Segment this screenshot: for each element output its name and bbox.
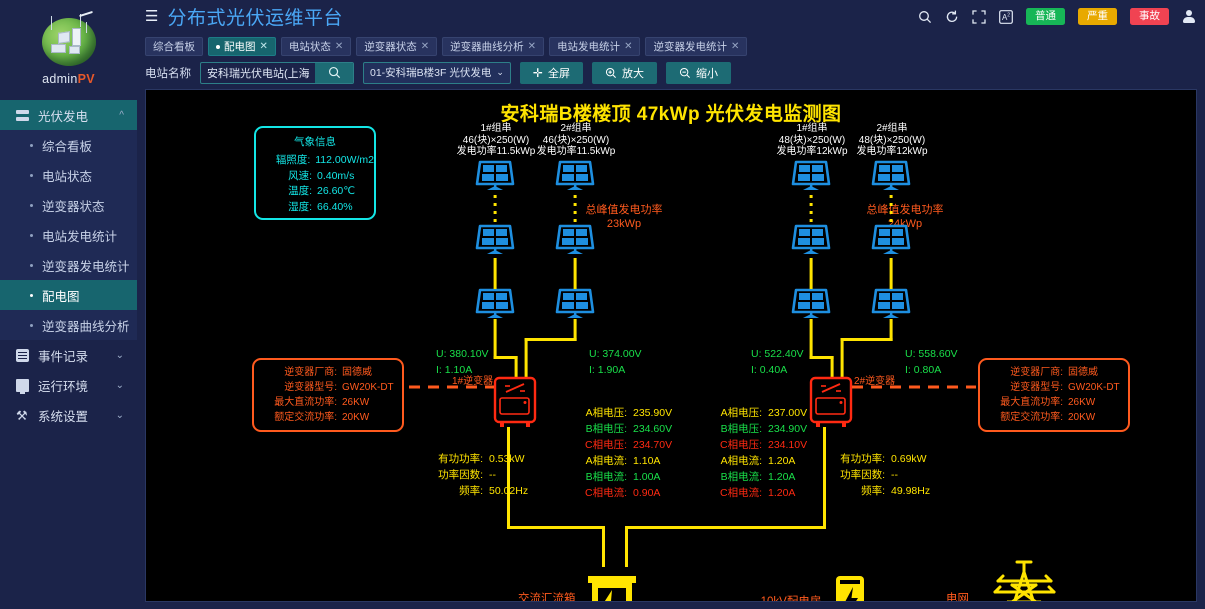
phase-meters-1: A相电压: 235.90V B相电压: 234.60V C相电压: 234.70…	[573, 405, 672, 501]
dc-meter-2-1: U: 522.40V I: 0.40A	[751, 346, 804, 378]
phase-key: A相电流:	[573, 453, 627, 469]
header-actions: A2 普通 严重 事故	[918, 8, 1195, 25]
sidebar-item-station-status[interactable]: 电站状态	[0, 160, 137, 190]
phase-row-c-voltage: C相电压: 234.70V	[573, 437, 672, 453]
chevron-down-icon: ⌄	[116, 410, 124, 421]
phase-key: B相电压:	[573, 421, 627, 437]
meter-key: 功率因数:	[429, 467, 483, 483]
phase-key: B相电流:	[573, 469, 627, 485]
sidebar-item-label: 逆变器发电统计	[42, 256, 130, 275]
diagram-graphics	[146, 90, 1196, 602]
transmission-tower-icon	[995, 562, 1054, 602]
meter-row-active-power: 有功功率: 0.69kW	[831, 451, 930, 467]
sidebar-item-distribution-diagram[interactable]: 配电图	[0, 280, 137, 310]
phase-value: 234.10V	[762, 437, 807, 453]
phase-key: C相电流:	[708, 485, 762, 501]
close-icon[interactable]: ✕	[421, 41, 429, 52]
brand-accent: PV	[78, 72, 95, 86]
close-icon[interactable]: ✕	[731, 41, 739, 52]
diagram-canvas-wrap: 安科瑞B楼楼顶 47kWp 光伏发电监测图 气象信息 辐照度: 112.00W/…	[137, 89, 1205, 609]
sidebar: adminPV 光伏发电 ^ 综合看板 电站状态 逆变器	[0, 0, 137, 609]
bullet-icon	[30, 174, 33, 177]
inverter-name-2: 2#逆变器	[854, 372, 895, 387]
sidebar-item-label: 电站状态	[42, 166, 92, 185]
spec-key: 最大直流功率:	[259, 395, 337, 410]
page-title: 分布式光伏运维平台	[167, 3, 343, 30]
dc-current: I: 0.40A	[751, 362, 804, 378]
user-avatar-icon[interactable]	[1182, 10, 1195, 24]
phase-row-c-current: C相电流: 1.20A	[708, 485, 807, 501]
plus-icon: ✛	[533, 66, 543, 80]
tab-inverter-curve[interactable]: 逆变器曲线分析 ✕	[442, 37, 544, 56]
spec-row-vendor: 逆变器厂商: 固德威	[259, 365, 395, 380]
spec-value: 固德威	[337, 365, 372, 380]
grid-label: 电网	[946, 592, 969, 602]
spec-row-vendor: 逆变器厂商: 固德威	[985, 365, 1121, 380]
dc-current: I: 0.80A	[905, 362, 958, 378]
sidebar-item-label: 配电图	[42, 286, 80, 305]
tab-label: 逆变器状态	[364, 39, 417, 54]
close-icon[interactable]: ✕	[624, 41, 632, 52]
fullscreen-button[interactable]: ✛ 全屏	[520, 62, 583, 84]
sidebar-subnav-pv: 综合看板 电站状态 逆变器状态 电站发电统计 逆变器发电统计	[0, 130, 137, 340]
phase-row-b-voltage: B相电压: 234.60V	[573, 421, 672, 437]
phase-value: 1.20A	[762, 469, 795, 485]
dc-meter-1-2: U: 374.00V I: 1.90A	[589, 346, 642, 378]
inverter-spec-box-1: 逆变器厂商: 固德威 逆变器型号: GW20K-DT 最大直流功率: 26KW …	[252, 358, 404, 432]
spec-value: GW20K-DT	[337, 380, 394, 395]
spec-key: 额定交流功率:	[259, 410, 337, 425]
sidebar-item-inverter-status[interactable]: 逆变器状态	[0, 190, 137, 220]
phase-row-a-voltage: A相电压: 237.00V	[708, 405, 807, 421]
sidebar-item-label: 综合看板	[42, 136, 92, 155]
grid-icon	[16, 109, 29, 122]
meter-key: 有功功率:	[429, 451, 483, 467]
tab-dashboard[interactable]: 综合看板	[145, 37, 203, 56]
sidebar-group-environment[interactable]: 运行环境 ⌄	[0, 370, 137, 400]
ac-combiner-label: 交流汇流箱	[518, 592, 576, 602]
phase-row-b-current: B相电流: 1.20A	[708, 469, 807, 485]
chevron-down-icon: ⌄	[496, 67, 504, 78]
dc-current: I: 1.90A	[589, 362, 642, 378]
document-icon	[16, 349, 29, 362]
inverter-meters-1: 有功功率: 0.53kW 功率因数: -- 频率: 50.02Hz	[429, 451, 528, 499]
substation-label: 10kV配电房 低压并网柜	[746, 595, 836, 602]
tab-station-status[interactable]: 电站状态 ✕	[281, 37, 351, 56]
tab-station-generation[interactable]: 电站发电统计 ✕	[549, 37, 640, 56]
brand-logo-icon	[39, 10, 99, 68]
sidebar-group-label: 运行环境	[38, 376, 88, 395]
inverter-meters-2: 有功功率: 0.69kW 功率因数: -- 频率: 49.98Hz	[831, 451, 930, 499]
meter-key: 有功功率:	[831, 451, 885, 467]
phase-key: C相电压:	[573, 437, 627, 453]
phase-key: C相电压:	[708, 437, 762, 453]
spec-value: 26KW	[337, 395, 369, 410]
meter-row-frequency: 频率: 50.02Hz	[429, 483, 528, 499]
fullscreen-button-label: 全屏	[548, 65, 570, 81]
meter-row-power-factor: 功率因数: --	[429, 467, 528, 483]
sidebar-group-settings[interactable]: ⚒ 系统设置 ⌄	[0, 400, 137, 430]
phase-row-c-voltage: C相电压: 234.10V	[708, 437, 807, 453]
sidebar-group-events[interactable]: 事件记录 ⌄	[0, 340, 137, 370]
spec-key: 逆变器型号:	[985, 380, 1063, 395]
chevron-down-icon: ⌄	[116, 380, 124, 391]
inverter-device-2	[811, 378, 851, 427]
tab-bar: 综合看板 配电图 ✕ 电站状态 ✕ 逆变器状态 ✕ 逆变器曲线分析 ✕ 电站发电…	[137, 33, 1205, 56]
sidebar-item-inverter-generation[interactable]: 逆变器发电统计	[0, 250, 137, 280]
meter-key: 频率:	[831, 483, 885, 499]
filter-toolbar: 电站名称 01-安科瑞B楼3F 光伏发电 ⌄ ✛ 全屏 放大 缩小	[137, 56, 1205, 89]
svg-text:2: 2	[1007, 12, 1010, 18]
bullet-icon	[30, 294, 33, 297]
language-icon[interactable]: A2	[999, 10, 1013, 24]
close-icon[interactable]: ✕	[260, 41, 268, 52]
tab-distribution-diagram[interactable]: 配电图 ✕	[208, 37, 276, 56]
meter-value: 0.53kW	[483, 451, 525, 467]
ac-combiner-box-icon	[588, 576, 636, 602]
phase-value: 1.10A	[627, 453, 660, 469]
wrench-icon: ⚒	[16, 409, 29, 422]
phase-value: 237.00V	[762, 405, 807, 421]
spec-value: GW20K-DT	[1063, 380, 1120, 395]
logo-area: adminPV	[0, 0, 137, 86]
phase-key: A相电压:	[708, 405, 762, 421]
phase-value: 235.90V	[627, 405, 672, 421]
meter-value: --	[483, 467, 496, 483]
phase-row-a-current: A相电流: 1.10A	[573, 453, 672, 469]
sidebar-group-label: 事件记录	[38, 346, 88, 365]
meter-value: 50.02Hz	[483, 483, 528, 499]
tab-label: 配电图	[224, 39, 256, 54]
sidebar-group-label: 光伏发电	[38, 106, 88, 125]
spec-row-dcpower: 最大直流功率: 26KW	[985, 395, 1121, 410]
search-button[interactable]	[315, 62, 353, 84]
search-input[interactable]	[201, 63, 315, 83]
search-icon[interactable]	[918, 10, 932, 24]
inverter-spec-box-2: 逆变器厂商: 固德威 逆变器型号: GW20K-DT 最大直流功率: 26KW …	[978, 358, 1130, 432]
station-search	[200, 62, 354, 84]
dc-voltage: U: 380.10V	[436, 346, 489, 362]
phase-value: 1.20A	[762, 485, 795, 501]
zoom-in-button[interactable]: 放大	[592, 62, 657, 84]
spec-value: 20KW	[1063, 410, 1095, 425]
sidebar-item-label: 逆变器状态	[42, 196, 105, 215]
distribution-diagram[interactable]: 安科瑞B楼楼顶 47kWp 光伏发电监测图 气象信息 辐照度: 112.00W/…	[145, 89, 1197, 602]
phase-value: 0.90A	[627, 485, 660, 501]
tab-label: 逆变器发电统计	[653, 39, 727, 54]
meter-row-power-factor: 功率因数: --	[831, 467, 930, 483]
spec-row-acpower: 额定交流功率: 20KW	[985, 410, 1121, 425]
dc-voltage: U: 374.00V	[589, 346, 642, 362]
sidebar-nav: 光伏发电 ^ 综合看板 电站状态 逆变器状态 电站发电统计	[0, 100, 137, 430]
dc-voltage: U: 522.40V	[751, 346, 804, 362]
spec-row-model: 逆变器型号: GW20K-DT	[985, 380, 1121, 395]
bullet-icon	[30, 324, 33, 327]
tab-label: 综合看板	[153, 39, 195, 54]
phase-row-a-voltage: A相电压: 235.90V	[573, 405, 672, 421]
close-icon[interactable]: ✕	[335, 41, 343, 52]
tab-inverter-generation[interactable]: 逆变器发电统计 ✕	[645, 37, 747, 56]
sidebar-group-label: 系统设置	[38, 406, 88, 425]
tab-label: 电站状态	[289, 39, 331, 54]
phase-row-b-current: B相电流: 1.00A	[573, 469, 672, 485]
active-dot-icon	[216, 45, 220, 49]
phase-row-a-current: A相电流: 1.20A	[708, 453, 807, 469]
spec-value: 26KW	[1063, 395, 1095, 410]
sidebar-item-label: 电站发电统计	[42, 226, 117, 245]
spec-key: 额定交流功率:	[985, 410, 1063, 425]
station-name-label: 电站名称	[145, 65, 191, 81]
sidebar-item-label: 逆变器曲线分析	[42, 316, 130, 335]
phase-value: 1.20A	[762, 453, 795, 469]
tab-label: 电站发电统计	[557, 39, 620, 54]
substation-line-1: 10kV配电房	[746, 595, 836, 602]
sidebar-item-inverter-curve[interactable]: 逆变器曲线分析	[0, 310, 137, 340]
spec-key: 逆变器厂商:	[259, 365, 337, 380]
meter-key: 频率:	[429, 483, 483, 499]
meter-value: 0.69kW	[885, 451, 927, 467]
tab-label: 逆变器曲线分析	[450, 39, 524, 54]
meter-key: 功率因数:	[831, 467, 885, 483]
status-badge-fault[interactable]: 事故	[1130, 8, 1169, 25]
phase-row-c-current: C相电流: 0.90A	[573, 485, 672, 501]
inverter-name-1: 1#逆变器	[452, 372, 493, 387]
tab-inverter-status[interactable]: 逆变器状态 ✕	[356, 37, 437, 56]
phase-key: C相电流:	[573, 485, 627, 501]
bullet-icon	[30, 234, 33, 237]
brand-main: admin	[42, 72, 78, 86]
phase-meters-2: A相电压: 237.00V B相电压: 234.90V C相电压: 234.10…	[708, 405, 807, 501]
status-badge-normal[interactable]: 普通	[1026, 8, 1065, 25]
phase-key: B相电压:	[708, 421, 762, 437]
hamburger-icon[interactable]: ☰	[145, 9, 158, 24]
bullet-icon	[30, 204, 33, 207]
bullet-icon	[30, 144, 33, 147]
phase-value: 234.70V	[627, 437, 672, 453]
sidebar-item-dashboard[interactable]: 综合看板	[0, 130, 137, 160]
inverter-device-1	[495, 378, 535, 427]
meter-row-active-power: 有功功率: 0.53kW	[429, 451, 528, 467]
main-area: ☰ 分布式光伏运维平台 A2 普通 严重 事故	[137, 0, 1205, 609]
dc-voltage: U: 558.60V	[905, 346, 958, 362]
bullet-icon	[30, 264, 33, 267]
phase-value: 234.90V	[762, 421, 807, 437]
spec-key: 逆变器型号:	[259, 380, 337, 395]
monitor-icon	[16, 379, 29, 392]
device-select[interactable]: 01-安科瑞B楼3F 光伏发电 ⌄	[363, 62, 511, 84]
spec-value: 20KW	[337, 410, 369, 425]
spec-key: 逆变器厂商:	[985, 365, 1063, 380]
phase-key: A相电压:	[573, 405, 627, 421]
phase-value: 234.60V	[627, 421, 672, 437]
spec-row-dcpower: 最大直流功率: 26KW	[259, 395, 395, 410]
dc-meter-2-2: U: 558.60V I: 0.80A	[905, 346, 958, 378]
brand-name: adminPV	[0, 72, 137, 86]
close-icon[interactable]: ✕	[528, 41, 536, 52]
phase-key: B相电流:	[708, 469, 762, 485]
meter-row-frequency: 频率: 49.98Hz	[831, 483, 930, 499]
status-badge-severe[interactable]: 严重	[1078, 8, 1117, 25]
phase-value: 1.00A	[627, 469, 660, 485]
spec-key: 最大直流功率:	[985, 395, 1063, 410]
sidebar-item-station-generation[interactable]: 电站发电统计	[0, 220, 137, 250]
sidebar-group-pv[interactable]: 光伏发电 ^	[0, 100, 137, 130]
zoom-out-button[interactable]: 缩小	[666, 62, 731, 84]
meter-value: --	[885, 467, 898, 483]
spec-row-model: 逆变器型号: GW20K-DT	[259, 380, 395, 395]
app-root: adminPV 光伏发电 ^ 综合看板 电站状态 逆变器	[0, 0, 1205, 609]
device-select-value: 01-安科瑞B楼3F 光伏发电	[370, 65, 491, 80]
fullscreen-icon[interactable]	[972, 10, 986, 24]
chevron-down-icon: ⌄	[116, 350, 124, 361]
spec-value: 固德威	[1063, 365, 1098, 380]
refresh-icon[interactable]	[945, 10, 959, 24]
phase-row-b-voltage: B相电压: 234.90V	[708, 421, 807, 437]
distribution-cabinet-icon	[836, 576, 864, 602]
phase-key: A相电流:	[708, 453, 762, 469]
spec-row-acpower: 额定交流功率: 20KW	[259, 410, 395, 425]
top-header: ☰ 分布式光伏运维平台 A2 普通 严重 事故	[137, 0, 1205, 33]
meter-value: 49.98Hz	[885, 483, 930, 499]
chevron-up-icon: ^	[119, 110, 124, 121]
zoom-out-button-label: 缩小	[696, 65, 718, 81]
zoom-in-button-label: 放大	[622, 65, 644, 81]
